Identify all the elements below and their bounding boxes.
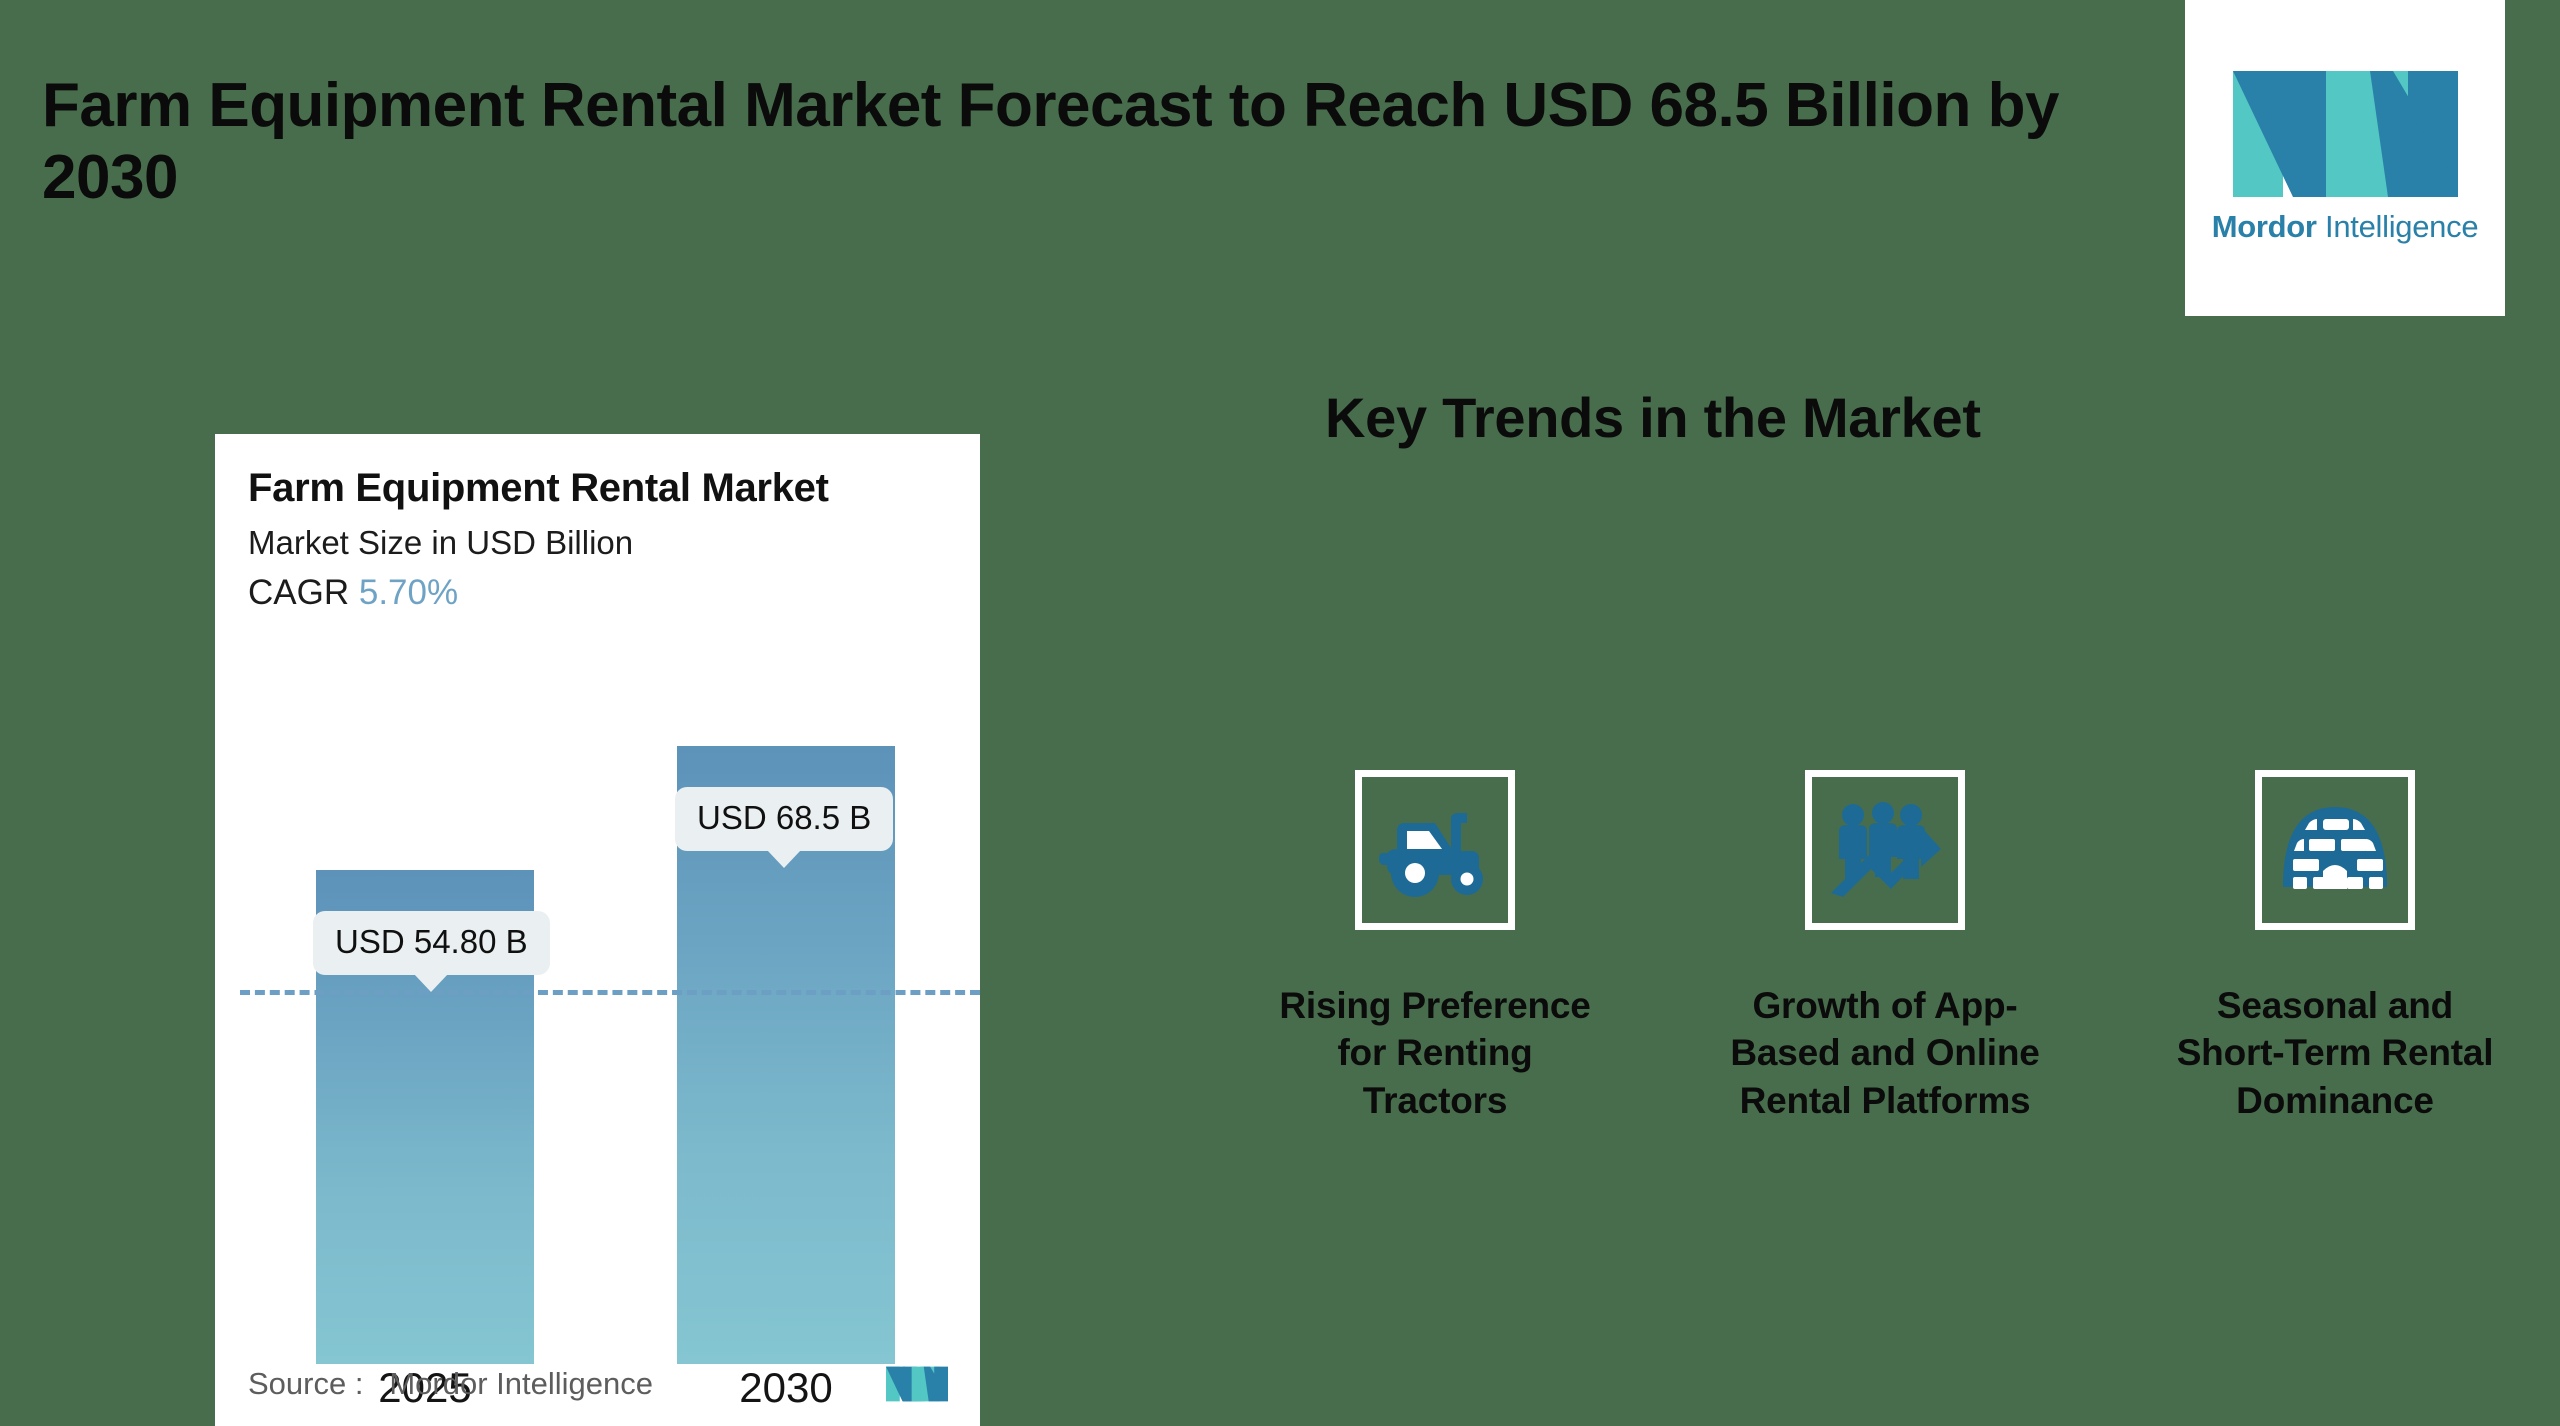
trend-icon-frame-2 [1805,770,1965,930]
trend-label-1: Rising Preference for Renting Tractors [1270,982,1600,1124]
trend-label-3: Seasonal and Short-Term Rental Dominance [2170,982,2500,1124]
data-label-2025: USD 54.80 B [313,911,550,975]
mordor-logo-mark-small [886,1364,948,1404]
source-label: Source : [248,1366,363,1401]
data-label-2030: USD 68.5 B [675,787,893,851]
bar-chart-plot: USD 54.80 B USD 68.5 B 2025 2030 [215,434,980,1426]
chart-source-text: Source : Mordor Intelligence [248,1366,653,1402]
logo-wordmark: Mordor Intelligence [2212,209,2479,245]
brand-logo: Mordor Intelligence [2185,0,2505,316]
trend-icon-frame-3 [2255,770,2415,930]
mordor-logo-mark [2233,71,2458,197]
trend-item-3: Seasonal and Short-Term Rental Dominance [2170,770,2500,1124]
trend-icon-frame-1 [1355,770,1515,930]
logo-word-intelligence: Intelligence [2325,209,2478,244]
tractor-icon [1379,801,1491,899]
chart-card: Farm Equipment Rental Market Market Size… [215,434,980,1426]
trends-heading: Key Trends in the Market [1325,385,1981,450]
trend-label-2: Growth of App-Based and Online Rental Pl… [1720,982,2050,1124]
reference-dashed-line [240,990,980,995]
logo-word-mordor: Mordor [2212,209,2317,244]
igloo-icon [2279,805,2391,895]
chart-source-row: Source : Mordor Intelligence [248,1364,948,1404]
data-label-2025-text: USD 54.80 B [335,923,528,960]
people-growth-chart-icon [1829,801,1941,899]
data-label-2030-text: USD 68.5 B [697,799,871,836]
source-name: Mordor Intelligence [389,1366,653,1401]
trend-item-1: Rising Preference for Renting Tractors [1270,770,1600,1124]
page-title: Farm Equipment Rental Market Forecast to… [42,70,2132,214]
trend-item-2: Growth of App-Based and Online Rental Pl… [1720,770,2050,1124]
trends-row: Rising Preference for Renting Tractors G… [1270,770,2500,1124]
